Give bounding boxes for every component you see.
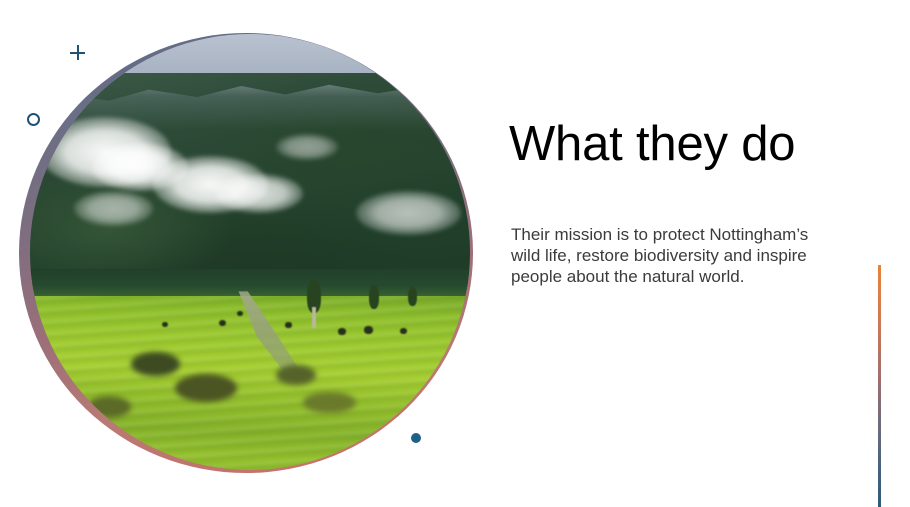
photo-cattle <box>285 322 292 328</box>
photo-cattle <box>237 311 243 316</box>
photo-tree <box>369 285 380 309</box>
accent-bar <box>878 265 881 507</box>
body-paragraph: Their mission is to protect Nottingham’s… <box>511 224 816 288</box>
photo-tree-trunk <box>312 307 315 329</box>
photo-cattle <box>364 326 373 333</box>
photo-bush <box>131 352 179 376</box>
photo-cloud <box>356 191 462 235</box>
photo-cloud <box>74 191 153 226</box>
photo-bush <box>276 365 316 385</box>
photo-cattle <box>338 328 346 335</box>
page-title: What they do <box>509 118 879 171</box>
plus-icon <box>70 45 85 60</box>
circular-photo[interactable] <box>19 33 473 473</box>
photo-tree <box>408 287 417 307</box>
photo-cattle <box>400 328 407 334</box>
photo-cloud <box>215 174 303 213</box>
photo-bush <box>303 392 356 414</box>
slide-canvas: What they do Their mission is to protect… <box>0 0 910 507</box>
photo-bush <box>87 396 131 418</box>
circle-outline-icon <box>27 113 40 126</box>
photo-motion-blur <box>30 296 470 470</box>
dot-icon <box>411 433 421 443</box>
photo-image <box>30 34 470 470</box>
